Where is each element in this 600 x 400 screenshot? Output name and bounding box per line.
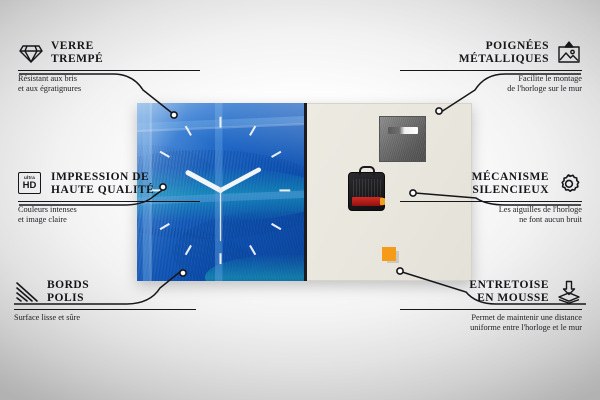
feature-title-line2: POLIS: [47, 292, 84, 304]
feature-poignees-metalliques[interactable]: POIGNÉESMÉTALLIQUES Facilite le montaged…: [400, 40, 582, 95]
picture-frame-hanger-icon: [556, 41, 582, 65]
hotspot-poignees: [436, 108, 442, 114]
feature-bords-polis[interactable]: BORDSPOLIS Surface lisse et sûre: [14, 279, 196, 323]
ultra-hd-icon: ultra HD: [18, 172, 44, 196]
feature-subtitle: Couleurs intenseset image claire: [18, 205, 200, 226]
feature-divider: [18, 201, 200, 202]
feature-sub-line2: uniforme entre l'horloge et le mur: [470, 323, 582, 332]
feature-title-line1: ENTRETOISE: [469, 279, 549, 291]
feature-sub-line2: et aux égratignures: [18, 84, 81, 93]
feature-divider: [400, 201, 582, 202]
feature-title: POIGNÉESMÉTALLIQUES: [459, 40, 549, 66]
diamond-icon: [18, 41, 44, 65]
gear-icon: [556, 172, 582, 196]
feature-sub-line1: Résistant aux bris: [18, 74, 77, 83]
feature-sub-line1: Permet de maintenir une distance: [471, 313, 582, 322]
feature-title-line1: MÉCANISME: [472, 171, 549, 183]
feature-title-line2: EN MOUSSE: [477, 292, 549, 304]
feature-divider: [400, 309, 582, 310]
feature-sub-line1: Couleurs intenses: [18, 205, 77, 214]
hotspot-verre-trempe: [171, 112, 177, 118]
feature-divider: [400, 70, 582, 71]
infographic-canvas: VERRETREMPÉ Résistant aux briset aux égr…: [0, 0, 600, 400]
feature-sub-line1: Les aiguilles de l'horloge: [499, 205, 582, 214]
feature-title-line1: BORDS: [47, 279, 89, 291]
feature-title-line1: IMPRESSION DE: [51, 171, 149, 183]
feature-divider: [14, 309, 196, 310]
feature-title: IMPRESSION DEHAUTE QUALITÉ: [51, 171, 154, 197]
feature-title-line2: SILENCIEUX: [472, 184, 549, 196]
feature-sub-line1: Facilite le montage: [518, 74, 582, 83]
feature-impression-haute-qualite[interactable]: ultra HD IMPRESSION DEHAUTE QUALITÉ Coul…: [18, 171, 200, 226]
ultra-hd-bottom: HD: [23, 181, 37, 191]
feature-divider: [18, 70, 200, 71]
feature-subtitle: Surface lisse et sûre: [14, 313, 196, 323]
feature-mecanisme-silencieux[interactable]: MÉCANISMESILENCIEUX Les aiguilles de l'h…: [400, 171, 582, 226]
arrow-into-layers-icon: [556, 280, 582, 304]
feature-sub-line1: Surface lisse et sûre: [14, 313, 80, 322]
feature-sub-line2: de l'horloge sur le mur: [507, 84, 582, 93]
feature-subtitle: Facilite le montagede l'horloge sur le m…: [400, 74, 582, 95]
feature-title-line1: POIGNÉES: [486, 40, 549, 52]
feature-subtitle: Résistant aux briset aux égratignures: [18, 74, 200, 95]
feature-sub-line2: et image claire: [18, 215, 67, 224]
feature-entretoise-en-mousse[interactable]: ENTRETOISEEN MOUSSE Permet de maintenir …: [400, 279, 582, 334]
feature-title-line2: HAUTE QUALITÉ: [51, 184, 154, 196]
feature-title: VERRETREMPÉ: [51, 40, 103, 66]
hotspot-entretoise: [397, 268, 403, 274]
feature-sub-line2: ne font aucun bruit: [519, 215, 582, 224]
hotspot-bords-polis: [180, 270, 186, 276]
polished-edges-icon: [14, 280, 40, 304]
feature-title: ENTRETOISEEN MOUSSE: [469, 279, 549, 305]
feature-subtitle: Les aiguilles de l'horlogene font aucun …: [400, 205, 582, 226]
feature-verre-trempe[interactable]: VERRETREMPÉ Résistant aux briset aux égr…: [18, 40, 200, 95]
feature-subtitle: Permet de maintenir une distanceuniforme…: [400, 313, 582, 334]
feature-title: MÉCANISMESILENCIEUX: [472, 171, 549, 197]
feature-title-line2: MÉTALLIQUES: [459, 53, 549, 65]
feature-title-line1: VERRE: [51, 40, 94, 52]
feature-title-line2: TREMPÉ: [51, 53, 103, 65]
feature-title: BORDSPOLIS: [47, 279, 89, 305]
